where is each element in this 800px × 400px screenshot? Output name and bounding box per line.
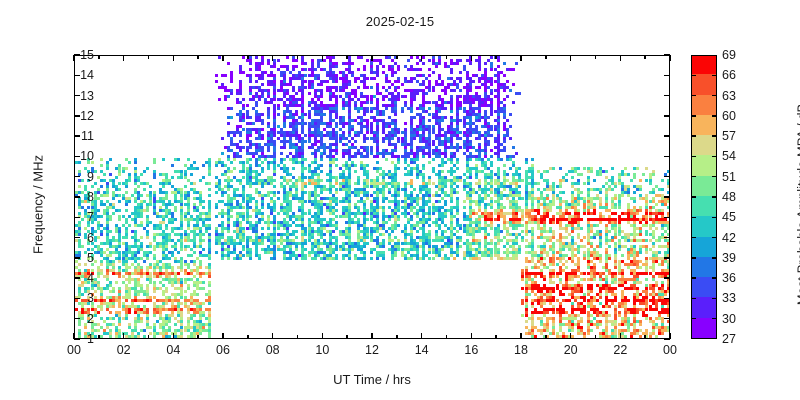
heatmap-cell bbox=[503, 164, 506, 167]
heatmap-cell bbox=[146, 257, 149, 260]
heatmap-cell bbox=[444, 116, 447, 119]
heatmap-cell bbox=[453, 89, 456, 92]
heatmap-cell bbox=[509, 89, 512, 92]
heatmap-cell bbox=[199, 179, 202, 182]
heatmap-cell bbox=[376, 155, 379, 158]
heatmap-cell bbox=[320, 179, 323, 182]
heatmap-cell bbox=[490, 164, 493, 167]
heatmap-cell bbox=[304, 158, 307, 161]
heatmap-cell bbox=[273, 179, 276, 182]
heatmap-cell bbox=[342, 125, 345, 128]
heatmap-cell bbox=[146, 236, 149, 239]
heatmap-cell bbox=[128, 224, 131, 227]
heatmap-cell bbox=[137, 251, 140, 254]
heatmap-cell bbox=[453, 170, 456, 173]
heatmap-cell bbox=[184, 338, 187, 339]
heatmap-cell bbox=[416, 230, 419, 233]
heatmap-cell bbox=[463, 206, 466, 209]
heatmap-cell bbox=[149, 185, 152, 188]
heatmap-cell bbox=[503, 140, 506, 143]
heatmap-cell bbox=[273, 257, 276, 260]
heatmap-cell bbox=[407, 59, 410, 62]
heatmap-cell bbox=[233, 134, 236, 137]
heatmap-cell bbox=[308, 92, 311, 95]
heatmap-cell bbox=[512, 101, 515, 104]
heatmap-cell bbox=[478, 86, 481, 89]
heatmap-cell bbox=[469, 89, 472, 92]
heatmap-cell bbox=[366, 155, 369, 158]
heatmap-cell bbox=[215, 164, 218, 167]
heatmap-cell bbox=[385, 158, 388, 161]
heatmap-cell bbox=[261, 242, 264, 245]
heatmap-cell bbox=[261, 62, 264, 65]
heatmap-cell bbox=[128, 266, 131, 269]
heatmap-cell bbox=[230, 116, 233, 119]
heatmap-cell bbox=[506, 173, 509, 176]
heatmap-cell bbox=[484, 197, 487, 200]
heatmap-cell bbox=[100, 185, 103, 188]
heatmap-cell bbox=[115, 176, 118, 179]
heatmap-cell bbox=[342, 107, 345, 110]
heatmap-cell bbox=[506, 80, 509, 83]
heatmap-cell bbox=[118, 218, 121, 221]
heatmap-cell bbox=[208, 227, 211, 230]
heatmap-cell bbox=[410, 218, 413, 221]
heatmap-cell bbox=[441, 119, 444, 122]
heatmap-cell bbox=[112, 305, 115, 308]
heatmap-cell bbox=[162, 338, 165, 339]
heatmap-cell bbox=[320, 83, 323, 86]
heatmap-cell bbox=[97, 209, 100, 212]
heatmap-cell bbox=[444, 230, 447, 233]
heatmap-cell bbox=[149, 338, 152, 339]
heatmap-cell bbox=[193, 314, 196, 317]
heatmap-cell bbox=[320, 164, 323, 167]
heatmap-cell bbox=[410, 257, 413, 260]
heatmap-cell bbox=[459, 80, 462, 83]
heatmap-cell bbox=[441, 248, 444, 251]
heatmap-cell bbox=[503, 188, 506, 191]
heatmap-cell bbox=[81, 218, 84, 221]
heatmap-cell bbox=[146, 224, 149, 227]
heatmap-cell bbox=[221, 194, 224, 197]
heatmap-cell bbox=[187, 158, 190, 161]
heatmap-plot-area bbox=[74, 55, 670, 339]
heatmap-cell bbox=[109, 158, 112, 161]
heatmap-cell bbox=[174, 323, 177, 326]
heatmap-cell bbox=[190, 338, 193, 339]
heatmap-cell bbox=[512, 83, 515, 86]
heatmap-cell bbox=[444, 92, 447, 95]
heatmap-cell bbox=[258, 221, 261, 224]
heatmap-cell bbox=[267, 149, 270, 152]
heatmap-cell bbox=[416, 158, 419, 161]
heatmap-cell bbox=[357, 134, 360, 137]
heatmap-cell bbox=[227, 230, 230, 233]
heatmap-cell bbox=[187, 287, 190, 290]
heatmap-cell bbox=[373, 77, 376, 80]
heatmap-cell bbox=[103, 173, 106, 176]
heatmap-cell bbox=[370, 251, 373, 254]
heatmap-cell bbox=[115, 281, 118, 284]
heatmap-cell bbox=[221, 137, 224, 140]
heatmap-cell bbox=[215, 74, 218, 77]
heatmap-cell bbox=[410, 173, 413, 176]
heatmap-cell bbox=[162, 158, 165, 161]
heatmap-cell bbox=[391, 137, 394, 140]
heatmap-cell bbox=[249, 68, 252, 71]
heatmap-cell bbox=[249, 134, 252, 137]
heatmap-cell bbox=[171, 164, 174, 167]
heatmap-cell bbox=[335, 209, 338, 212]
heatmap-cell bbox=[357, 110, 360, 113]
heatmap-cell bbox=[100, 158, 103, 161]
heatmap-cell bbox=[177, 272, 180, 275]
heatmap-cell bbox=[140, 173, 143, 176]
heatmap-cell bbox=[394, 227, 397, 230]
heatmap-cell bbox=[193, 338, 196, 339]
heatmap-cell bbox=[215, 206, 218, 209]
heatmap-cell bbox=[376, 161, 379, 164]
heatmap-cell bbox=[261, 122, 264, 125]
heatmap-cell bbox=[335, 191, 338, 194]
heatmap-cell bbox=[81, 317, 84, 320]
heatmap-cell bbox=[332, 230, 335, 233]
heatmap-cell bbox=[258, 257, 261, 260]
heatmap-cell bbox=[277, 227, 280, 230]
heatmap-cell bbox=[370, 101, 373, 104]
heatmap-cell bbox=[128, 179, 131, 182]
heatmap-cell bbox=[432, 257, 435, 260]
heatmap-cell bbox=[125, 299, 128, 302]
heatmap-cell bbox=[456, 191, 459, 194]
heatmap-cell bbox=[78, 323, 81, 326]
heatmap-cell bbox=[249, 257, 252, 260]
heatmap-cell bbox=[472, 101, 475, 104]
heatmap-cell bbox=[497, 242, 500, 245]
heatmap-cell bbox=[118, 323, 121, 326]
heatmap-cell bbox=[202, 248, 205, 251]
heatmap-cell bbox=[422, 167, 425, 170]
heatmap-cell bbox=[320, 95, 323, 98]
heatmap-cell bbox=[128, 281, 131, 284]
heatmap-cell bbox=[227, 62, 230, 65]
heatmap-cell bbox=[304, 242, 307, 245]
heatmap-cell bbox=[165, 290, 168, 293]
heatmap-cell bbox=[413, 116, 416, 119]
heatmap-cell bbox=[416, 62, 419, 65]
heatmap-cell bbox=[100, 308, 103, 311]
heatmap-cell bbox=[261, 227, 264, 230]
heatmap-cell bbox=[456, 62, 459, 65]
heatmap-cell bbox=[202, 164, 205, 167]
heatmap-cell bbox=[503, 98, 506, 101]
heatmap-cell bbox=[249, 62, 252, 65]
heatmap-cell bbox=[208, 284, 211, 287]
heatmap-cell bbox=[221, 152, 224, 155]
heatmap-cell bbox=[239, 140, 242, 143]
heatmap-cell bbox=[342, 155, 345, 158]
heatmap-cell bbox=[472, 80, 475, 83]
heatmap-cell bbox=[283, 146, 286, 149]
heatmap-cell bbox=[335, 203, 338, 206]
heatmap-cell bbox=[202, 281, 205, 284]
heatmap-cell bbox=[363, 245, 366, 248]
heatmap-cell bbox=[391, 74, 394, 77]
heatmap-cell bbox=[518, 185, 521, 188]
heatmap-cell bbox=[128, 161, 131, 164]
heatmap-cell bbox=[94, 314, 97, 317]
heatmap-cell bbox=[109, 230, 112, 233]
heatmap-cell bbox=[249, 146, 252, 149]
heatmap-cell bbox=[109, 173, 112, 176]
heatmap-cell bbox=[261, 206, 264, 209]
heatmap-cell bbox=[444, 203, 447, 206]
heatmap-cell bbox=[348, 257, 351, 260]
heatmap-cell bbox=[258, 173, 261, 176]
heatmap-cell bbox=[78, 233, 81, 236]
heatmap-cell bbox=[261, 161, 264, 164]
heatmap-cell bbox=[128, 200, 131, 203]
heatmap-cell bbox=[497, 59, 500, 62]
heatmap-cell bbox=[459, 59, 462, 62]
heatmap-cell bbox=[428, 224, 431, 227]
heatmap-cell bbox=[137, 338, 140, 339]
heatmap-cell bbox=[351, 248, 354, 251]
heatmap-cell bbox=[450, 200, 453, 203]
heatmap-cell bbox=[354, 155, 357, 158]
heatmap-cell bbox=[428, 107, 431, 110]
heatmap-cell bbox=[143, 329, 146, 332]
heatmap-cell bbox=[459, 71, 462, 74]
heatmap-cell bbox=[314, 68, 317, 71]
heatmap-cell bbox=[118, 335, 121, 338]
heatmap-cell bbox=[463, 257, 466, 260]
heatmap-cell bbox=[202, 200, 205, 203]
heatmap-cell bbox=[261, 77, 264, 80]
heatmap-cell bbox=[323, 233, 326, 236]
heatmap-cell bbox=[410, 110, 413, 113]
heatmap-cell bbox=[224, 98, 227, 101]
heatmap-cell bbox=[410, 56, 413, 59]
heatmap-cell bbox=[208, 218, 211, 221]
heatmap-cells bbox=[75, 56, 669, 338]
heatmap-cell bbox=[335, 80, 338, 83]
heatmap-cell bbox=[397, 167, 400, 170]
heatmap-cell bbox=[118, 245, 121, 248]
heatmap-cell bbox=[320, 212, 323, 215]
heatmap-cell bbox=[500, 197, 503, 200]
heatmap-cell bbox=[153, 161, 156, 164]
heatmap-cell bbox=[168, 320, 171, 323]
heatmap-cell bbox=[335, 152, 338, 155]
heatmap-cell bbox=[199, 275, 202, 278]
heatmap-cell bbox=[456, 161, 459, 164]
heatmap-cell bbox=[432, 89, 435, 92]
heatmap-cell bbox=[100, 338, 103, 339]
heatmap-cell bbox=[261, 113, 264, 116]
heatmap-cell bbox=[320, 158, 323, 161]
heatmap-cell bbox=[354, 164, 357, 167]
heatmap-cell bbox=[78, 185, 81, 188]
heatmap-cell bbox=[469, 134, 472, 137]
heatmap-cell bbox=[109, 218, 112, 221]
heatmap-cell bbox=[230, 170, 233, 173]
heatmap-cell bbox=[354, 80, 357, 83]
heatmap-cell bbox=[295, 257, 298, 260]
heatmap-cell bbox=[140, 194, 143, 197]
heatmap-cell bbox=[335, 65, 338, 68]
heatmap-cell bbox=[478, 257, 481, 260]
heatmap-cell bbox=[252, 122, 255, 125]
heatmap-cell bbox=[500, 158, 503, 161]
heatmap-cell bbox=[500, 239, 503, 242]
heatmap-cell bbox=[459, 245, 462, 248]
heatmap-cell bbox=[137, 185, 140, 188]
heatmap-cell bbox=[128, 311, 131, 314]
heatmap-cell bbox=[335, 158, 338, 161]
heatmap-cell bbox=[239, 149, 242, 152]
heatmap-cell bbox=[357, 68, 360, 71]
heatmap-cell bbox=[391, 257, 394, 260]
heatmap-cell bbox=[438, 62, 441, 65]
heatmap-cell bbox=[326, 80, 329, 83]
heatmap-cell bbox=[180, 338, 183, 339]
heatmap-cell bbox=[490, 83, 493, 86]
heatmap-cell bbox=[146, 167, 149, 170]
heatmap-cell bbox=[428, 161, 431, 164]
heatmap-cell bbox=[456, 185, 459, 188]
figure: 2025-02-15 12345678910111213141500020406… bbox=[0, 0, 800, 400]
heatmap-cell bbox=[230, 92, 233, 95]
heatmap-cell bbox=[363, 140, 366, 143]
heatmap-cell bbox=[295, 248, 298, 251]
heatmap-cell bbox=[289, 224, 292, 227]
heatmap-cell bbox=[97, 275, 100, 278]
heatmap-cell bbox=[394, 149, 397, 152]
heatmap-cell bbox=[153, 176, 156, 179]
heatmap-cell bbox=[199, 332, 202, 335]
heatmap-cell bbox=[261, 137, 264, 140]
heatmap-cell bbox=[404, 95, 407, 98]
heatmap-cell bbox=[438, 110, 441, 113]
heatmap-cell bbox=[125, 191, 128, 194]
heatmap-cell bbox=[413, 98, 416, 101]
heatmap-cell bbox=[354, 140, 357, 143]
heatmap-cell bbox=[215, 215, 218, 218]
heatmap-cell bbox=[134, 161, 137, 164]
heatmap-cell bbox=[125, 203, 128, 206]
page-title: 2025-02-15 bbox=[0, 14, 800, 29]
heatmap-cell bbox=[469, 158, 472, 161]
heatmap-cell bbox=[304, 62, 307, 65]
heatmap-cell bbox=[230, 107, 233, 110]
heatmap-cell bbox=[456, 254, 459, 257]
heatmap-cell bbox=[503, 89, 506, 92]
heatmap-cell bbox=[351, 62, 354, 65]
heatmap-cell bbox=[388, 218, 391, 221]
heatmap-cell bbox=[118, 173, 121, 176]
heatmap-cell bbox=[202, 287, 205, 290]
heatmap-cell bbox=[432, 212, 435, 215]
heatmap-cell bbox=[140, 236, 143, 239]
heatmap-cell bbox=[397, 98, 400, 101]
heatmap-cell bbox=[422, 155, 425, 158]
heatmap-cell bbox=[199, 266, 202, 269]
heatmap-cell bbox=[512, 68, 515, 71]
heatmap-cell bbox=[227, 188, 230, 191]
heatmap-cell bbox=[100, 215, 103, 218]
heatmap-cell bbox=[382, 113, 385, 116]
heatmap-cell bbox=[289, 257, 292, 260]
heatmap-cell bbox=[137, 293, 140, 296]
heatmap-cell bbox=[360, 56, 363, 59]
heatmap-cell bbox=[153, 338, 156, 339]
heatmap-cell bbox=[196, 293, 199, 296]
heatmap-cell bbox=[478, 68, 481, 71]
heatmap-cell bbox=[249, 158, 252, 161]
heatmap-cell bbox=[94, 170, 97, 173]
heatmap-cell bbox=[94, 239, 97, 242]
heatmap-cell bbox=[125, 185, 128, 188]
heatmap-cell bbox=[422, 56, 425, 59]
heatmap-cell bbox=[140, 275, 143, 278]
heatmap-cell bbox=[416, 92, 419, 95]
heatmap-cell bbox=[190, 173, 193, 176]
heatmap-cell bbox=[273, 173, 276, 176]
heatmap-cell bbox=[230, 161, 233, 164]
heatmap-cell bbox=[320, 170, 323, 173]
heatmap-cell bbox=[215, 80, 218, 83]
heatmap-cell bbox=[233, 167, 236, 170]
heatmap-cell bbox=[97, 329, 100, 332]
heatmap-cell bbox=[295, 92, 298, 95]
heatmap-cell bbox=[261, 83, 264, 86]
heatmap-cell bbox=[295, 59, 298, 62]
heatmap-cell bbox=[295, 65, 298, 68]
heatmap-cell bbox=[354, 170, 357, 173]
heatmap-cell bbox=[428, 119, 431, 122]
heatmap-cell bbox=[509, 113, 512, 116]
heatmap-cell bbox=[81, 245, 84, 248]
heatmap-cell bbox=[208, 188, 211, 191]
heatmap-cell bbox=[258, 98, 261, 101]
heatmap-cell bbox=[382, 257, 385, 260]
heatmap-cell bbox=[177, 251, 180, 254]
heatmap-cell bbox=[478, 230, 481, 233]
heatmap-cell bbox=[196, 167, 199, 170]
heatmap-cell bbox=[382, 65, 385, 68]
heatmap-cell bbox=[363, 113, 366, 116]
heatmap-cell bbox=[125, 236, 128, 239]
heatmap-cell bbox=[208, 173, 211, 176]
heatmap-cell bbox=[109, 254, 112, 257]
heatmap-cell bbox=[230, 80, 233, 83]
heatmap-cell bbox=[94, 260, 97, 263]
heatmap-cell bbox=[202, 302, 205, 305]
heatmap-cell bbox=[215, 251, 218, 254]
heatmap-cell bbox=[255, 56, 258, 59]
heatmap-cell bbox=[432, 71, 435, 74]
heatmap-cell bbox=[208, 182, 211, 185]
heatmap-cell bbox=[118, 209, 121, 212]
heatmap-cell bbox=[112, 290, 115, 293]
heatmap-cell bbox=[94, 230, 97, 233]
heatmap-cell bbox=[208, 194, 211, 197]
heatmap-cell bbox=[444, 107, 447, 110]
heatmap-cell bbox=[357, 86, 360, 89]
heatmap-cell bbox=[165, 302, 168, 305]
